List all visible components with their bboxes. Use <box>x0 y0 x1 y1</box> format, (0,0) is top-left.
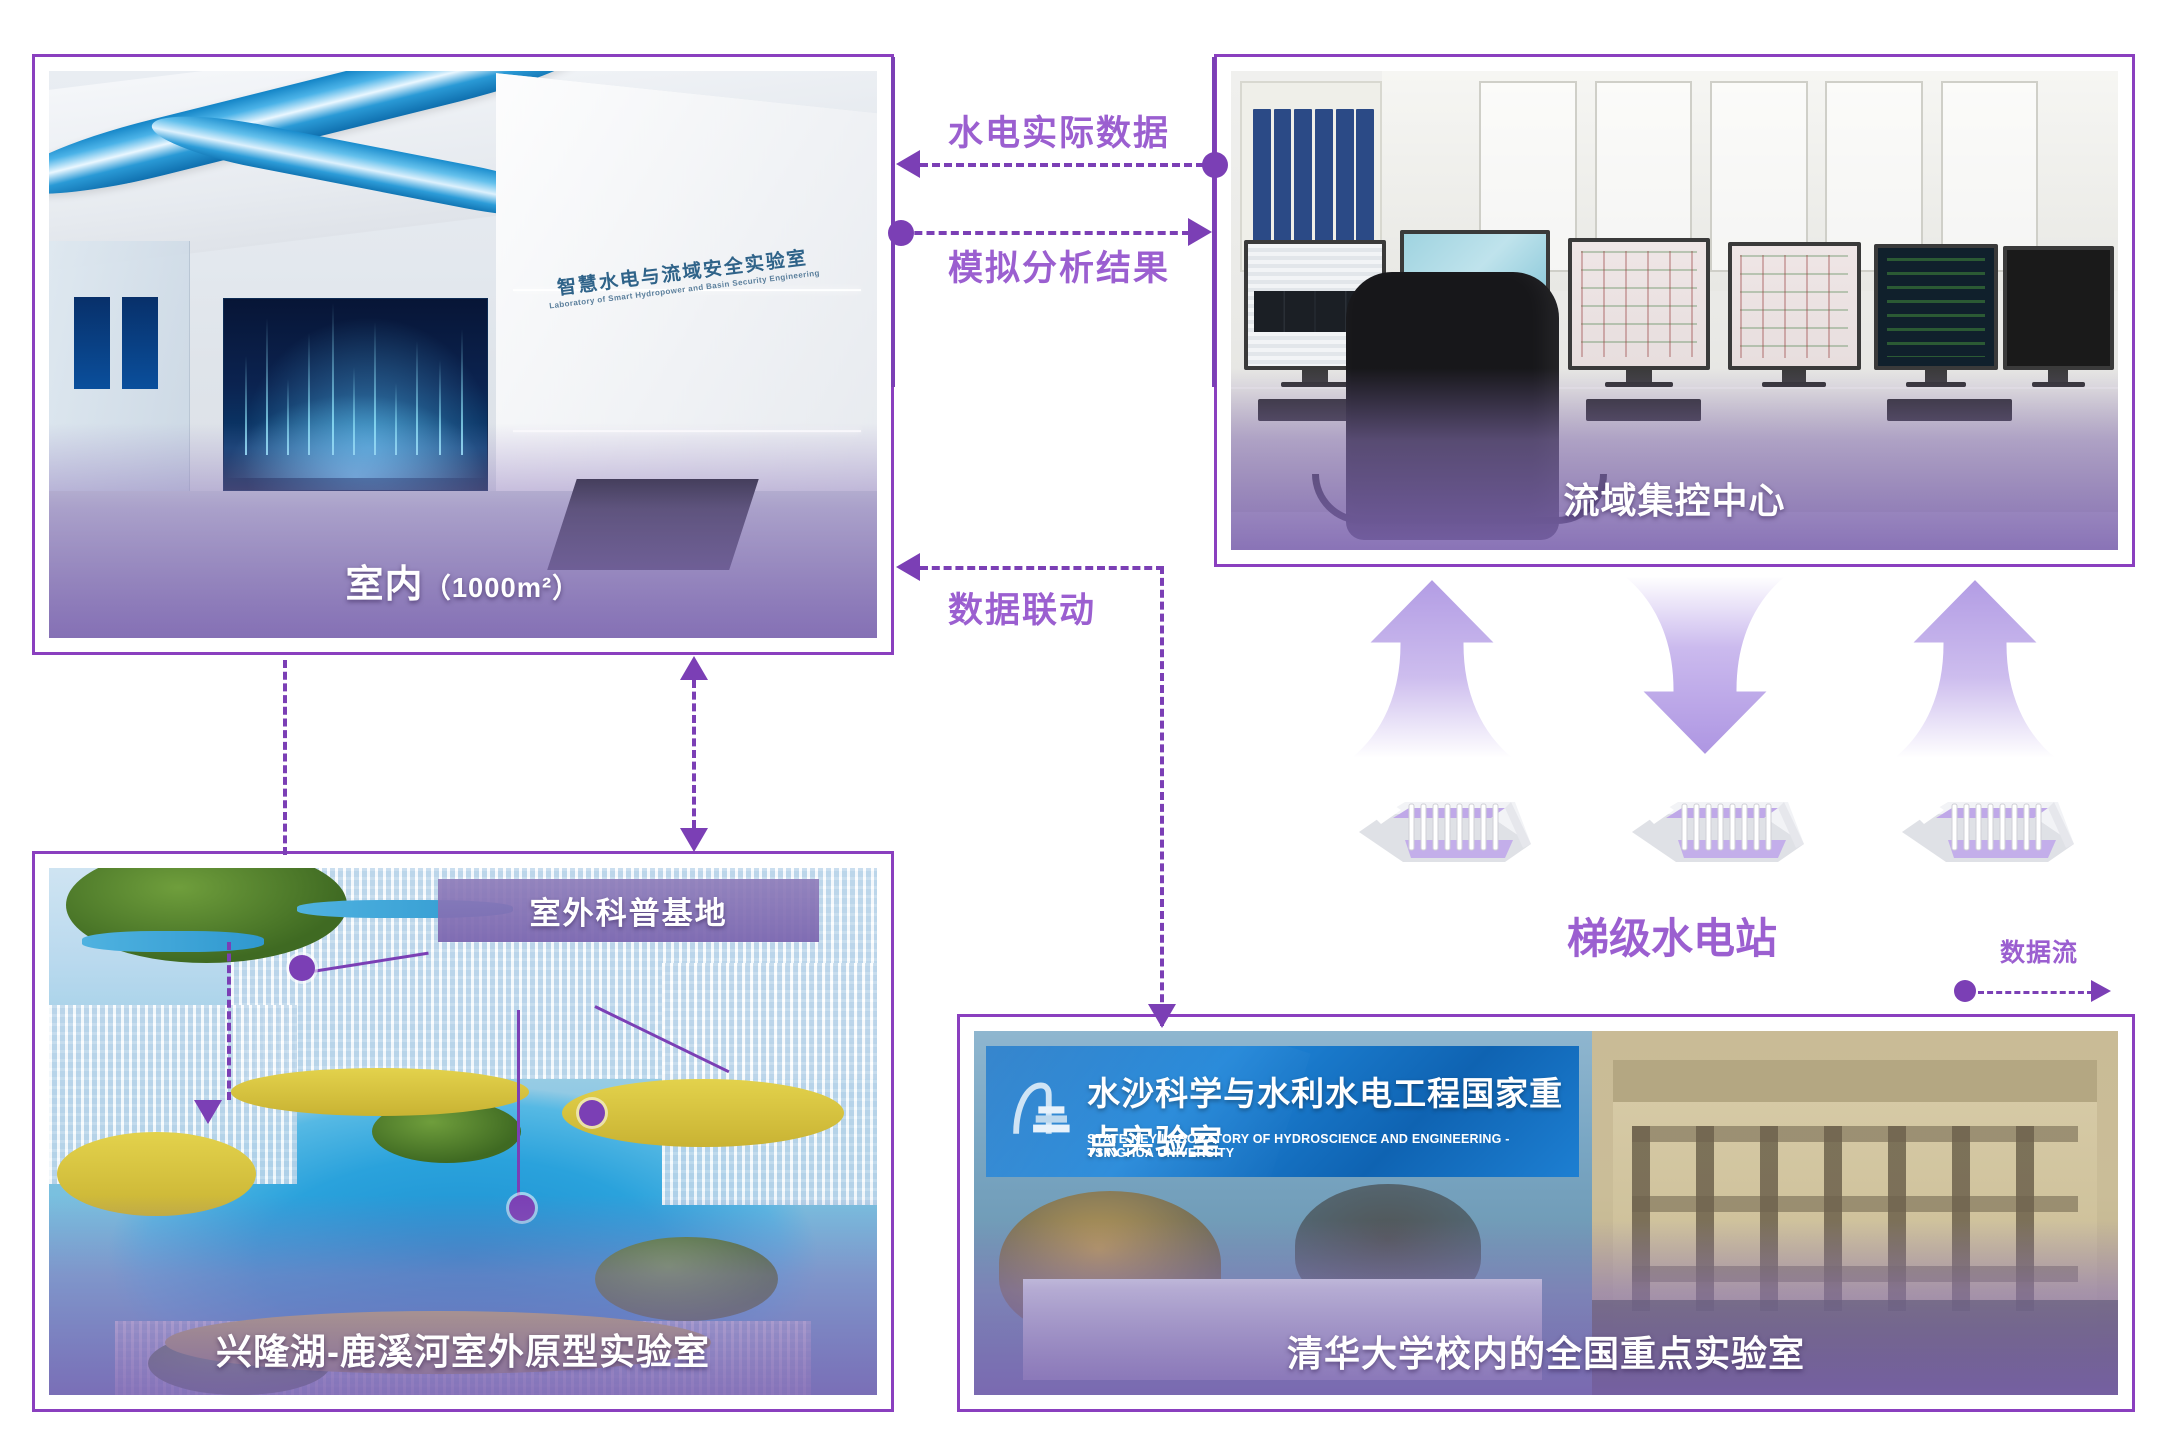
data-linkage-down-arrow <box>1148 1004 1176 1028</box>
data-linkage-label: 数据联动 <box>948 582 1096 633</box>
monitor-4 <box>1728 242 1861 387</box>
outdoor-banner-label: 室外科普基地 <box>530 888 728 933</box>
indoor-lab-caption-main: 室内 <box>345 564 423 606</box>
connector-stub-right <box>1212 57 1216 387</box>
monitor-5 <box>1874 244 1998 387</box>
wall-display-1 <box>74 297 110 388</box>
data-linkage-vertical <box>1160 566 1164 1026</box>
keyboard-2 <box>1586 399 1701 421</box>
monitor-3 <box>1568 238 1710 387</box>
skl-banner: 水沙科学与水利水电工程国家重点实验室 STATE KEY LABORATORY … <box>986 1046 1579 1177</box>
tsinghua-lab-box[interactable]: 水沙科学与水利水电工程国家重点实验室 STATE KEY LABORATORY … <box>957 1014 2135 1412</box>
data-linkage-horizontal <box>920 566 1164 570</box>
dam-icon-2 <box>1618 740 1818 880</box>
wall-display-2 <box>122 297 158 388</box>
indoor-outdoor-up-arrow <box>680 656 708 680</box>
led-video-wall <box>223 298 488 491</box>
indoor-lab-caption: 室内（1000m²） <box>49 553 877 608</box>
outdoor-banner: 室外科普基地 <box>438 879 819 942</box>
map-marker-2[interactable] <box>509 1195 535 1221</box>
data-flow-legend-arrow <box>2091 980 2111 1002</box>
diagram-canvas: 智慧水电与流域安全实验室 Laboratory of Smart Hydropo… <box>0 0 2167 1443</box>
outdoor-lab-box[interactable]: 室外科普基地 兴隆湖-鹿溪河室外原型实验室 <box>32 851 894 1412</box>
marker-route-arrow <box>194 1100 222 1124</box>
marker-route-dashed <box>227 942 231 1100</box>
outdoor-lab-caption: 兴隆湖-鹿溪河室外原型实验室 <box>49 1323 877 1375</box>
data-flow-legend-node <box>1954 980 1976 1002</box>
marker-line-2 <box>517 1010 520 1210</box>
data-flow-legend-line <box>1978 991 2093 994</box>
indoor-lab-photo: 智慧水电与流域安全实验室 Laboratory of Smart Hydropo… <box>49 71 877 638</box>
control-center-caption: 流域集控中心 <box>1231 472 2118 524</box>
keyboard-3 <box>1887 399 2011 421</box>
dam-icon-1 <box>1345 740 1545 880</box>
cascade-arrow-down <box>1620 572 1790 762</box>
indoor-lab-caption-area: （1000m²） <box>423 572 580 603</box>
dam-icon-3 <box>1888 740 2088 880</box>
river-west <box>82 931 264 952</box>
hydro-data-dashed-line <box>920 163 1216 167</box>
hydro-data-arrowhead <box>896 150 920 178</box>
map-marker-3[interactable] <box>579 1100 605 1126</box>
indoor-outdoor-arrow-line <box>692 680 696 828</box>
hydro-data-label: 水电实际数据 <box>948 105 1170 156</box>
skl-banner-en: STATE KEY LABORATORY OF HYDROSCIENCE AND… <box>1087 1132 1579 1160</box>
monitor-6 <box>2003 246 2114 387</box>
map-marker-1[interactable] <box>289 955 315 981</box>
skl-logo-icon <box>1007 1067 1072 1153</box>
lakeshore-north <box>231 1068 529 1115</box>
simulation-arrowhead <box>1188 218 1212 246</box>
tsinghua-lab-caption: 清华大学校内的全国重点实验室 <box>974 1325 2118 1377</box>
lakeshore-west <box>57 1132 256 1216</box>
hydro-data-origin-node <box>1202 152 1228 178</box>
tsinghua-lab-photo: 水沙科学与水利水电工程国家重点实验室 STATE KEY LABORATORY … <box>974 1031 2118 1395</box>
cascade-label: 梯级水电站 <box>1567 905 1777 966</box>
simulation-origin-node <box>888 220 914 246</box>
control-center-photo: 流域集控中心 <box>1231 71 2118 550</box>
indoor-outdoor-down-arrow <box>680 828 708 852</box>
control-center-box[interactable]: 流域集控中心 <box>1214 54 2135 567</box>
city-glow <box>224 394 487 478</box>
simulation-label: 模拟分析结果 <box>948 240 1170 291</box>
data-flow-legend-label: 数据流 <box>2000 933 2078 969</box>
cascade-arrow-up-1 <box>1347 572 1517 762</box>
simulation-dashed-line <box>890 231 1190 235</box>
data-linkage-left-arrow <box>896 553 920 581</box>
indoor-outdoor-dashed-link <box>283 660 287 855</box>
indoor-lab-box[interactable]: 智慧水电与流域安全实验室 Laboratory of Smart Hydropo… <box>32 54 894 655</box>
outdoor-lab-photo: 室外科普基地 兴隆湖-鹿溪河室外原型实验室 <box>49 868 877 1395</box>
cascade-arrow-up-2 <box>1890 572 2060 762</box>
forest-east <box>595 1237 777 1321</box>
